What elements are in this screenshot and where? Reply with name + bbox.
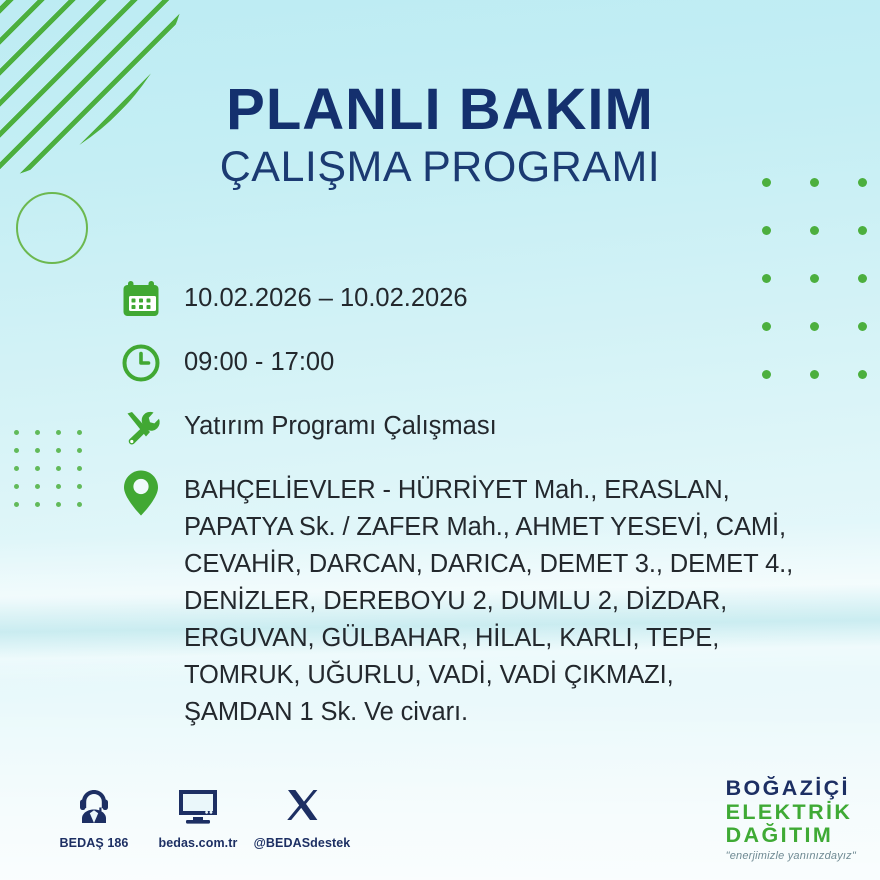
work-type-value: Yatırım Programı Çalışması (184, 404, 497, 439)
contact-social-label: @BEDASdestek (250, 836, 354, 850)
footer-contacts: BEDAŞ 186 bedas.com.tr (42, 782, 354, 850)
contact-phone[interactable]: BEDAŞ 186 (42, 782, 146, 850)
brand-tagline: "enerjimizle yanınızdayız" (726, 851, 856, 862)
contact-phone-label: BEDAŞ 186 (42, 836, 146, 850)
brand-line-3: DAĞITIM (726, 825, 856, 847)
address-line: TOMRUK, UĞURLU, VADİ, VADİ ÇIKMAZI, (184, 657, 793, 694)
calendar-icon (118, 276, 164, 322)
info-row-time: 09:00 - 17:00 (118, 340, 838, 386)
clock-icon (118, 340, 164, 386)
address-line: PAPATYA Sk. / ZAFER Mah., AHMET YESEVİ, … (184, 509, 793, 546)
info-row-date: 10.02.2026 – 10.02.2026 (118, 276, 838, 322)
info-row-location: BAHÇELİEVLER - HÜRRİYET Mah., ERASLAN, P… (118, 468, 838, 731)
contact-website-label: bedas.com.tr (146, 836, 250, 850)
address-line: DENİZLER, DEREBOYU 2, DUMLU 2, DİZDAR, (184, 583, 793, 620)
contact-website[interactable]: bedas.com.tr (146, 782, 250, 850)
monitor-icon (146, 782, 250, 830)
address-line: ŞAMDAN 1 Sk. Ve civarı. (184, 694, 793, 731)
tools-icon (118, 404, 164, 450)
info-list: 10.02.2026 – 10.02.2026 09:00 - 17:00 (118, 276, 838, 731)
page-subtitle: ÇALIŞMA PROGRAMI (0, 145, 880, 190)
brand-logo: BOĞAZİÇİ ELEKTRİK DAĞITIM "enerjimizle y… (726, 778, 856, 862)
info-row-work-type: Yatırım Programı Çalışması (118, 404, 838, 450)
location-value: BAHÇELİEVLER - HÜRRİYET Mah., ERASLAN, P… (184, 468, 793, 731)
brand-line-1: BOĞAZİÇİ (726, 778, 856, 800)
x-twitter-icon (250, 782, 354, 830)
dot-grid-decoration-left (14, 430, 98, 520)
circle-outline-decoration (16, 192, 88, 264)
address-line: CEVAHİR, DARCAN, DARICA, DEMET 3., DEMET… (184, 546, 793, 583)
contact-social[interactable]: @BEDASdestek (250, 782, 354, 850)
date-range-value: 10.02.2026 – 10.02.2026 (184, 276, 468, 311)
map-pin-icon (118, 468, 164, 516)
poster-header: PLANLI BAKIM ÇALIŞMA PROGRAMI (0, 80, 880, 190)
time-range-value: 09:00 - 17:00 (184, 340, 334, 375)
page-title: PLANLI BAKIM (0, 80, 880, 139)
address-line: BAHÇELİEVLER - HÜRRİYET Mah., ERASLAN, (184, 472, 793, 509)
call-center-agent-icon (42, 782, 146, 830)
planned-maintenance-poster: PLANLI BAKIM ÇALIŞMA PROGRAMI (0, 0, 880, 880)
address-line: ERGUVAN, GÜLBAHAR, HİLAL, KARLI, TEPE, (184, 620, 793, 657)
brand-line-2: ELEKTRİK (726, 802, 856, 824)
